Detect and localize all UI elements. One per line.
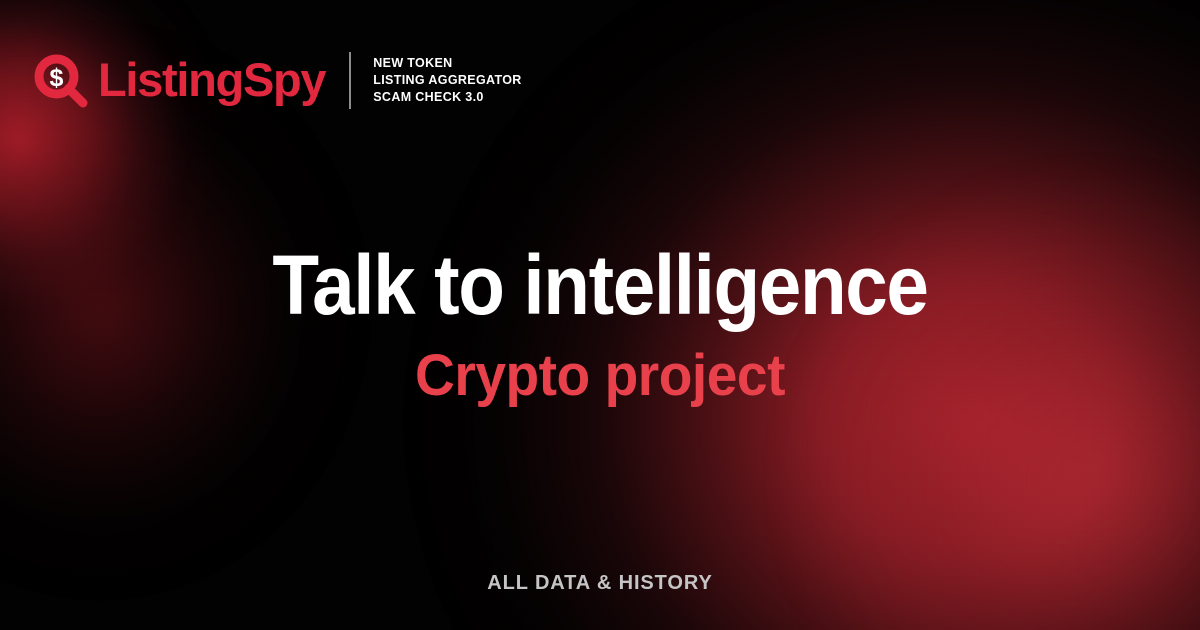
tagline-line-3: SCAM CHECK 3.0 [373,89,521,106]
logo-lockup[interactable]: $ ListingSpy [34,54,325,108]
tagline-line-1: NEW TOKEN [373,55,521,72]
magnifier-dollar-icon: $ [34,54,88,108]
hero-section: Talk to intelligence Crypto project [0,243,1200,405]
hero-subheadline: Crypto project [30,347,1170,405]
logo-wordmark-part-2: Spy [243,53,325,106]
brand-tagline: NEW TOKEN LISTING AGGREGATOR SCAM CHECK … [373,55,521,106]
brand-header: $ ListingSpy NEW TOKEN LISTING AGGREGATO… [34,52,522,109]
svg-text:$: $ [50,64,64,92]
footer-caption: ALL DATA & HISTORY [487,572,712,594]
promo-banner: $ ListingSpy NEW TOKEN LISTING AGGREGATO… [0,0,1200,630]
header-divider [349,52,351,109]
logo-wordmark: ListingSpy [98,56,325,103]
logo-wordmark-part-1: Listing [98,53,243,106]
footer-section: ALL DATA & HISTORY [0,572,1200,595]
hero-headline: Talk to intelligence [54,243,1146,327]
tagline-line-2: LISTING AGGREGATOR [373,72,521,89]
